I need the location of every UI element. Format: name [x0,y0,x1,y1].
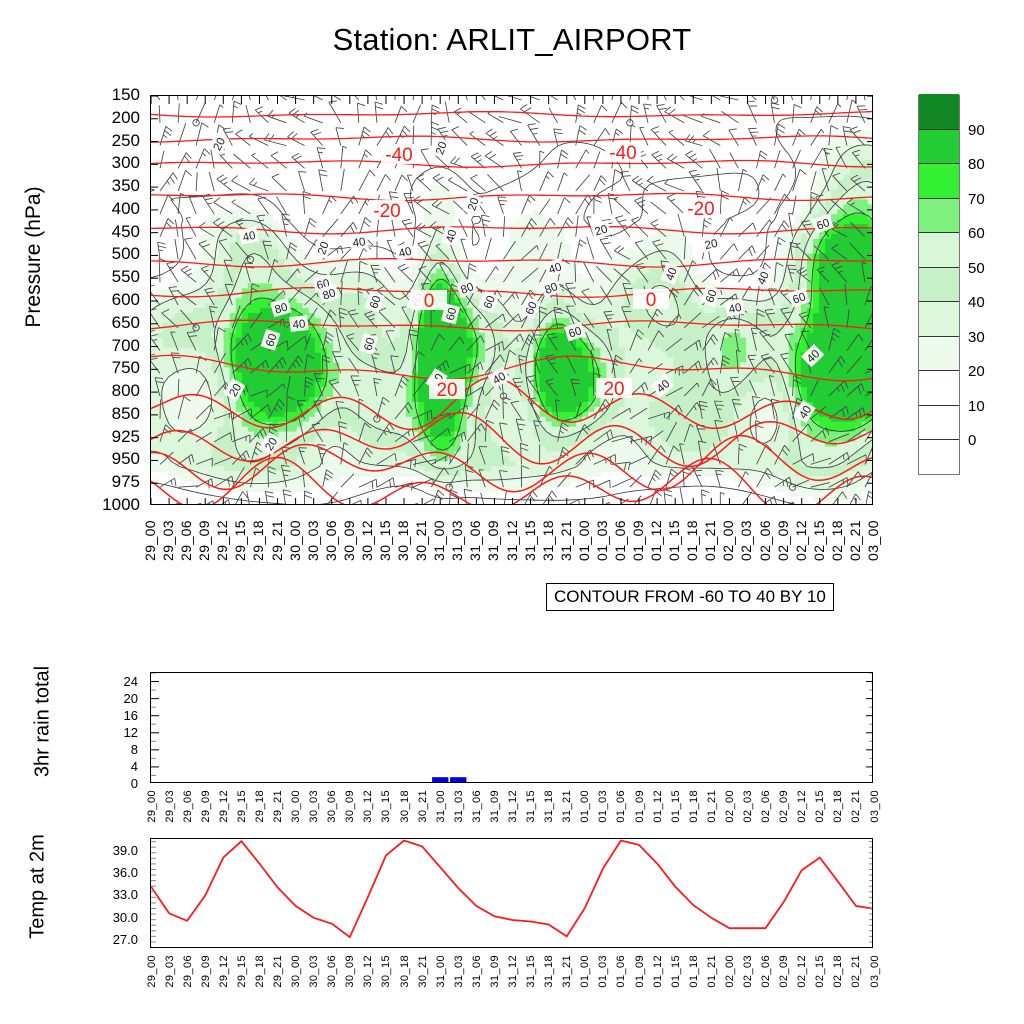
time-tick-31_06: 31_06 [470,955,484,988]
pressure-tick-650: 650 [112,314,140,331]
time-tick-01_09: 01_09 [631,520,645,561]
time-tick-01_21: 01_21 [703,520,717,561]
time-tick-02_18: 02_18 [831,955,845,988]
time-tick-29_18: 29_18 [253,790,267,823]
time-tick-29_06: 29_06 [181,955,195,988]
time-tick-02_03: 02_03 [739,520,753,561]
time-tick-31_15: 31_15 [524,955,538,988]
colorbar-band-2 [919,370,959,405]
time-tick-30_18: 30_18 [398,790,412,823]
time-tick-01_00: 01_00 [578,955,592,988]
cross-section-plot-area: 2020202020202020404040404040404040404040… [150,95,873,505]
pressure-tick-150: 150 [112,86,140,103]
time-tick-03_00: 03_00 [868,955,882,988]
time-tick-02_09: 02_09 [776,520,790,561]
pressure-tick-850: 850 [112,405,140,422]
temp-axis-ticks: 39.036.033.030.027.0 [90,838,142,948]
time-tick-29_00: 29_00 [145,955,159,988]
time-tick-29_12: 29_12 [217,790,231,823]
time-tick-31_15: 31_15 [524,790,538,823]
time-tick-02_09: 02_09 [777,790,791,823]
cross-section-panel: 2020202020202020404040404040404040404040… [150,95,873,505]
time-tick-01_12: 01_12 [649,520,663,561]
time-tick-02_06: 02_06 [758,520,772,561]
time-tick-31_06: 31_06 [468,520,482,561]
temp-plot-area [150,838,873,948]
pressure-tick-950: 950 [112,450,140,467]
time-tick-02_00: 02_00 [723,790,737,823]
time-tick-31_15: 31_15 [523,520,537,561]
time-tick-01_06: 01_06 [613,520,627,561]
temp-axis-label: Temp at 2m [27,787,50,987]
time-tick-30_03: 30_03 [306,520,320,561]
time-tick-31_18: 31_18 [541,520,555,561]
time-tick-29_15: 29_15 [235,955,249,988]
time-tick-02_15: 02_15 [813,955,827,988]
time-tick-30_09: 30_09 [343,955,357,988]
time-tick-02_18: 02_18 [831,790,845,823]
pressure-tick-1000: 1000 [102,496,140,513]
colorbar-band-8 [919,163,959,198]
time-tick-29_03: 29_03 [163,955,177,988]
time-tick-29_03: 29_03 [161,520,175,561]
time-tick-01_21: 01_21 [705,955,719,988]
time-tick-31_09: 31_09 [488,955,502,988]
pressure-tick-400: 400 [112,200,140,217]
time-tick-29_00: 29_00 [143,520,157,561]
rain-tick-0: 0 [131,777,138,790]
time-tick-02_12: 02_12 [795,790,809,823]
pressure-tick-700: 700 [112,337,140,354]
time-tick-01_15: 01_15 [669,955,683,988]
colorbar-label-20: 20 [968,364,985,379]
pressure-tick-750: 750 [112,359,140,376]
time-tick-02_15: 02_15 [812,520,826,561]
colorbar-band-0 [919,439,959,474]
colorbar-label-30: 30 [968,330,985,345]
time-tick-30_18: 30_18 [396,520,410,561]
time-tick-31_00: 31_00 [432,520,446,561]
time-tick-30_09: 30_09 [343,790,357,823]
colorbar-band-10 [919,94,959,129]
colorbar-label-40: 40 [968,295,985,310]
time-tick-29_12: 29_12 [215,520,229,561]
temp-tick-33.0: 33.0 [113,888,138,901]
pressure-tick-975: 975 [112,473,140,490]
pressure-tick-300: 300 [112,154,140,171]
temp-tick-36.0: 36.0 [113,866,138,879]
temp-tick-30.0: 30.0 [113,911,138,924]
time-tick-01_03: 01_03 [596,790,610,823]
time-tick-29_03: 29_03 [163,790,177,823]
time-tick-30_03: 30_03 [307,790,321,823]
time-tick-30_03: 30_03 [307,955,321,988]
time-tick-03_00: 03_00 [868,790,882,823]
time-tick-31_03: 31_03 [452,790,466,823]
time-tick-01_18: 01_18 [687,955,701,988]
time-tick-31_09: 31_09 [486,520,500,561]
rain-tick-8: 8 [131,743,138,756]
time-tick-30_06: 30_06 [325,790,339,823]
pressure-tick-550: 550 [112,268,140,285]
time-tick-31_18: 31_18 [542,790,556,823]
time-tick-29_18: 29_18 [251,520,265,561]
time-tick-29_21: 29_21 [270,520,284,561]
time-tick-31_12: 31_12 [506,790,520,823]
time-tick-29_09: 29_09 [199,955,213,988]
time-tick-01_03: 01_03 [596,955,610,988]
time-tick-30_15: 30_15 [379,790,393,823]
time-tick-30_21: 30_21 [416,955,430,988]
time-tick-30_00: 30_00 [288,520,302,561]
time-tick-01_06: 01_06 [614,955,628,988]
time-tick-02_18: 02_18 [830,520,844,561]
rain-tick-24: 24 [124,675,138,688]
time-tick-01_00: 01_00 [578,790,592,823]
pressure-tick-450: 450 [112,223,140,240]
temperature-line [151,841,873,938]
rain-tick-16: 16 [124,709,138,722]
contour-caption: CONTOUR FROM -60 TO 40 BY 10 [546,583,834,611]
time-tick-31_21: 31_21 [559,520,573,561]
time-tick-02_15: 02_15 [813,790,827,823]
time-tick-30_06: 30_06 [324,520,338,561]
rain-tick-4: 4 [131,760,138,773]
time-tick-02_21: 02_21 [848,520,862,561]
time-tick-31_18: 31_18 [542,955,556,988]
weather-cross-section-figure: Station: ARLIT_AIRPORT Pressure (hPa) 15… [0,0,1024,1024]
colorbar-label-90: 90 [968,123,985,138]
time-tick-02_06: 02_06 [759,955,773,988]
time-tick-29_21: 29_21 [271,955,285,988]
colorbar-label-80: 80 [968,157,985,172]
rain-plot-area [150,672,873,783]
time-tick-30_09: 30_09 [342,520,356,561]
time-tick-01_21: 01_21 [705,790,719,823]
colorbar-band-3 [919,336,959,371]
rain-axis-ticks: 24201612840 [100,672,142,783]
time-tick-02_12: 02_12 [794,520,808,561]
time-tick-29_15: 29_15 [235,790,249,823]
time-tick-01_12: 01_12 [651,790,665,823]
pressure-tick-200: 200 [112,109,140,126]
time-tick-30_06: 30_06 [325,955,339,988]
temp-tick-39.0: 39.0 [113,844,138,857]
time-tick-29_12: 29_12 [217,955,231,988]
colorbar-band-4 [919,301,959,336]
colorbar-band-7 [919,198,959,233]
pressure-tick-350: 350 [112,177,140,194]
time-tick-03_00: 03_00 [866,520,880,561]
time-tick-31_00: 31_00 [434,955,448,988]
temp-tick-27.0: 27.0 [113,933,138,946]
time-tick-29_06: 29_06 [179,520,193,561]
rain-tick-20: 20 [124,692,138,705]
temp-time-axis: 29_0029_0329_0629_0929_1229_1529_1829_21… [150,955,873,1015]
time-tick-02_03: 02_03 [741,790,755,823]
colorbar [918,95,960,475]
time-tick-29_09: 29_09 [199,790,213,823]
time-tick-31_03: 31_03 [452,955,466,988]
time-tick-31_09: 31_09 [488,790,502,823]
time-tick-01_09: 01_09 [633,790,647,823]
time-tick-29_00: 29_00 [145,790,159,823]
time-tick-31_00: 31_00 [434,790,448,823]
colorbar-label-70: 70 [968,192,985,207]
time-tick-01_15: 01_15 [667,520,681,561]
time-tick-29_15: 29_15 [233,520,247,561]
temp-graphic [151,839,873,948]
time-tick-02_09: 02_09 [777,955,791,988]
time-tick-02_03: 02_03 [741,955,755,988]
time-tick-02_12: 02_12 [795,955,809,988]
time-tick-29_18: 29_18 [253,955,267,988]
colorbar-band-9 [919,129,959,164]
time-tick-01_12: 01_12 [651,955,665,988]
colorbar-band-1 [919,405,959,440]
time-tick-02_00: 02_00 [721,520,735,561]
time-tick-31_03: 31_03 [450,520,464,561]
time-tick-30_12: 30_12 [361,955,375,988]
time-tick-02_06: 02_06 [759,790,773,823]
time-tick-01_18: 01_18 [687,790,701,823]
time-tick-02_21: 02_21 [849,955,863,988]
time-tick-29_09: 29_09 [197,520,211,561]
time-tick-30_00: 30_00 [289,790,303,823]
pressure-tick-600: 600 [112,291,140,308]
pressure-tick-500: 500 [112,245,140,262]
page-title: Station: ARLIT_AIRPORT [0,22,1024,58]
time-tick-01_09: 01_09 [633,955,647,988]
pressure-axis-ticks: 1502002503003504004505005506006507007508… [92,95,146,505]
colorbar-label-50: 50 [968,261,985,276]
time-tick-01_18: 01_18 [685,520,699,561]
time-tick-30_15: 30_15 [379,955,393,988]
time-tick-02_00: 02_00 [723,955,737,988]
cross-section-time-axis: 29_0029_0329_0629_0929_1229_1529_1829_21… [150,520,873,580]
cross-section-graphic: 2020202020202020404040404040404040404040… [151,96,873,505]
rain-panel [150,672,873,783]
colorbar-label-0: 0 [968,433,976,448]
pressure-tick-925: 925 [112,428,140,445]
time-tick-30_12: 30_12 [361,790,375,823]
colorbar-band-5 [919,267,959,302]
time-tick-02_21: 02_21 [849,790,863,823]
colorbar-label-60: 60 [968,226,985,241]
time-tick-31_21: 31_21 [560,955,574,988]
time-tick-30_12: 30_12 [360,520,374,561]
temp-panel [150,838,873,948]
time-tick-31_21: 31_21 [560,790,574,823]
time-tick-30_18: 30_18 [398,955,412,988]
time-tick-31_12: 31_12 [505,520,519,561]
time-tick-30_00: 30_00 [289,955,303,988]
time-tick-30_21: 30_21 [416,790,430,823]
time-tick-30_21: 30_21 [414,520,428,561]
time-tick-31_06: 31_06 [470,790,484,823]
rain-tick-12: 12 [124,726,138,739]
time-tick-01_15: 01_15 [669,790,683,823]
time-tick-01_06: 01_06 [614,790,628,823]
time-tick-01_00: 01_00 [577,520,591,561]
colorbar-band-6 [919,232,959,267]
pressure-tick-250: 250 [112,132,140,149]
rain-graphic [151,673,873,783]
time-tick-29_06: 29_06 [181,790,195,823]
colorbar-labels: 9080706050403020100 [968,95,1018,475]
time-tick-29_21: 29_21 [271,790,285,823]
time-tick-31_12: 31_12 [506,955,520,988]
rain-bars [432,777,466,783]
time-tick-01_03: 01_03 [595,520,609,561]
pressure-tick-800: 800 [112,382,140,399]
pressure-axis-label: Pressure (hPa) [22,137,46,377]
time-tick-30_15: 30_15 [378,520,392,561]
colorbar-label-10: 10 [968,399,985,414]
